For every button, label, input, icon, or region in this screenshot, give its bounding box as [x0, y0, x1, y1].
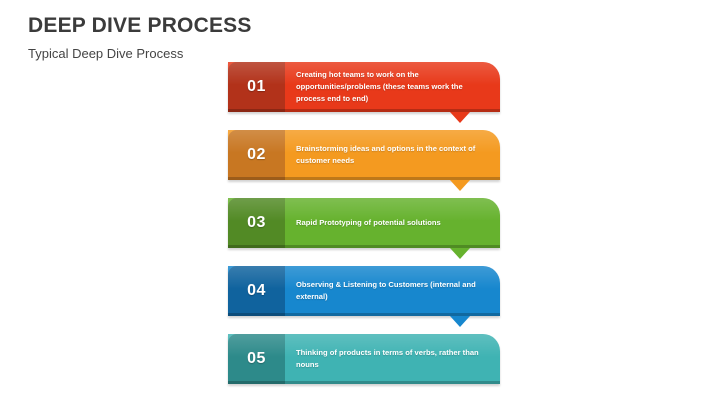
slide-canvas: DEEP DIVE PROCESS Typical Deep Dive Proc…	[0, 0, 720, 404]
step-description: Thinking of products in terms of verbs, …	[296, 347, 488, 372]
step-number-label: 01	[247, 78, 266, 96]
flow-arrow-icon	[450, 316, 470, 327]
step-body: Brainstorming ideas and options in the c…	[285, 130, 500, 180]
page-title: DEEP DIVE PROCESS	[28, 14, 252, 37]
flow-arrow-icon	[450, 180, 470, 191]
step-body: Thinking of products in terms of verbs, …	[285, 334, 500, 384]
step-number-badge: 03	[228, 198, 285, 248]
step-description: Creating hot teams to work on the opport…	[296, 69, 488, 106]
process-step-list: 01Creating hot teams to work on the oppo…	[228, 62, 500, 388]
step-description: Rapid Prototyping of potential solutions	[296, 217, 441, 229]
process-step-row[interactable]: 01Creating hot teams to work on the oppo…	[228, 62, 500, 116]
step-body: Observing & Listening to Customers (inte…	[285, 266, 500, 316]
step-body: Creating hot teams to work on the opport…	[285, 62, 500, 112]
process-step-bar[interactable]: 04Observing & Listening to Customers (in…	[228, 266, 500, 316]
process-step-bar[interactable]: 03Rapid Prototyping of potential solutio…	[228, 198, 500, 248]
process-step-row[interactable]: 05Thinking of products in terms of verbs…	[228, 334, 500, 388]
process-step-bar[interactable]: 01Creating hot teams to work on the oppo…	[228, 62, 500, 112]
step-number-badge: 01	[228, 62, 285, 112]
step-number-label: 03	[247, 214, 266, 232]
slide-header: DEEP DIVE PROCESS Typical Deep Dive Proc…	[28, 14, 252, 61]
step-number-label: 05	[247, 350, 266, 368]
step-description: Brainstorming ideas and options in the c…	[296, 143, 488, 168]
step-body: Rapid Prototyping of potential solutions	[285, 198, 500, 248]
process-step-row[interactable]: 02Brainstorming ideas and options in the…	[228, 130, 500, 184]
process-step-bar[interactable]: 02Brainstorming ideas and options in the…	[228, 130, 500, 180]
process-step-row[interactable]: 04Observing & Listening to Customers (in…	[228, 266, 500, 320]
step-number-badge: 04	[228, 266, 285, 316]
step-number-label: 02	[247, 146, 266, 164]
step-number-badge: 02	[228, 130, 285, 180]
step-number-badge: 05	[228, 334, 285, 384]
process-step-row[interactable]: 03Rapid Prototyping of potential solutio…	[228, 198, 500, 252]
flow-arrow-icon	[450, 112, 470, 123]
page-subtitle: Typical Deep Dive Process	[28, 47, 252, 61]
flow-arrow-icon	[450, 248, 470, 259]
step-number-label: 04	[247, 282, 266, 300]
step-description: Observing & Listening to Customers (inte…	[296, 279, 488, 304]
process-step-bar[interactable]: 05Thinking of products in terms of verbs…	[228, 334, 500, 384]
